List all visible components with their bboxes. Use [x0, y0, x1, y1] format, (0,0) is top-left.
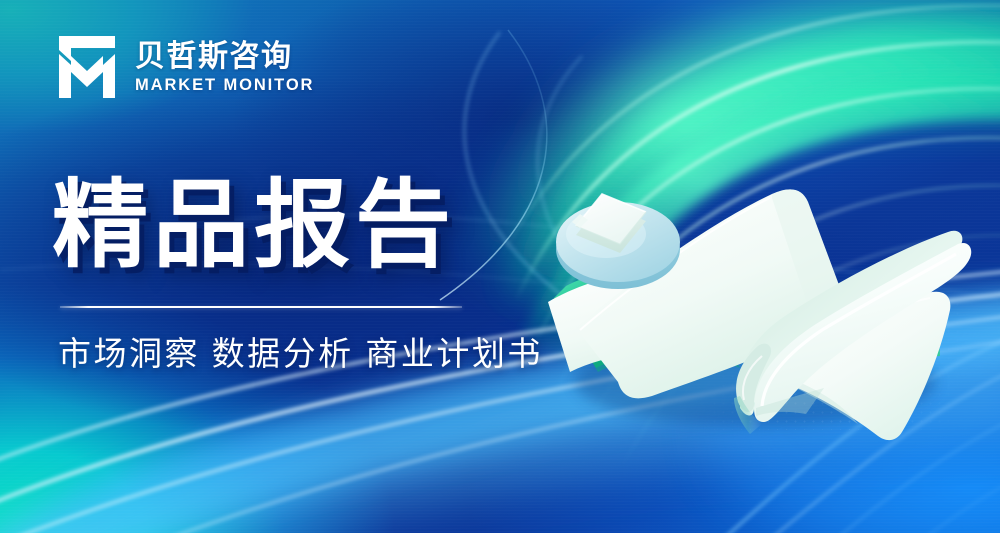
- brand-logo[interactable]: 贝哲斯咨询 MARKET MONITOR: [56, 34, 314, 100]
- promo-banner: 贝哲斯咨询 MARKET MONITOR 精品报告 市场洞察 数据分析 商业计划…: [0, 0, 1000, 533]
- pie-chart-disc: [556, 194, 680, 289]
- banner-headline: 精品报告: [52, 176, 456, 277]
- banner-subheadline: 市场洞察 数据分析 商业计划书: [58, 333, 543, 374]
- logo-company-name-cn: 贝哲斯咨询: [135, 42, 314, 72]
- logo-company-name-en: MARKET MONITOR: [135, 77, 314, 94]
- open-book-illustration: [540, 150, 960, 440]
- logo-wordmark: 贝哲斯咨询 MARKET MONITOR: [135, 40, 314, 94]
- logo-m-mark-icon: [56, 34, 118, 100]
- headline-divider: [60, 306, 462, 308]
